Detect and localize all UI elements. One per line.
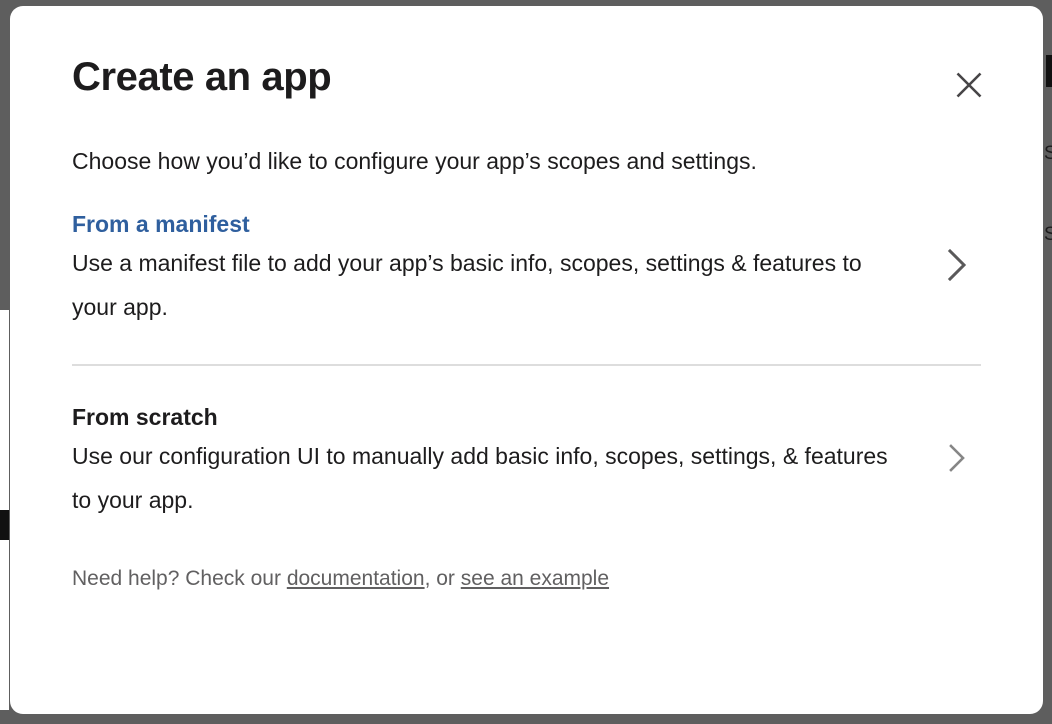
background-page-mark-left [0, 510, 9, 540]
app-creation-options: From a manifest Use a manifest file to a… [72, 177, 981, 522]
option-from-scratch-heading: From scratch [72, 400, 902, 434]
chevron-right-icon[interactable] [933, 243, 981, 287]
page-title: Create an app [72, 53, 331, 101]
background-page-mark-right [1046, 55, 1052, 87]
help-footer: Need help? Check our documentation, or s… [72, 522, 981, 594]
help-footer-separator: , or [425, 567, 461, 590]
background-page-text-1: S [1044, 143, 1052, 165]
option-from-a-manifest[interactable]: From a manifest Use a manifest file to a… [72, 207, 981, 329]
documentation-link[interactable]: documentation [287, 567, 425, 590]
help-footer-lead: Need help? Check our [72, 567, 287, 590]
close-button[interactable] [949, 65, 989, 105]
option-from-scratch-description: Use our configuration UI to manually add… [72, 434, 902, 522]
see-an-example-link[interactable]: see an example [461, 567, 609, 590]
option-from-a-manifest-description: Use a manifest file to add your app’s ba… [72, 241, 902, 329]
option-from-a-manifest-text: From a manifest Use a manifest file to a… [72, 207, 902, 329]
create-an-app-modal: Create an app Choose how you’d like to c… [10, 6, 1043, 714]
options-divider [72, 364, 981, 366]
modal-header: Create an app [72, 6, 981, 105]
chevron-right-icon[interactable] [933, 438, 981, 478]
option-from-scratch-text: From scratch Use our configuration UI to… [72, 400, 902, 522]
close-icon [954, 70, 984, 100]
option-from-a-manifest-heading: From a manifest [72, 207, 902, 241]
background-page-text-2: S [1044, 224, 1052, 246]
modal-subtitle: Choose how you’d like to configure your … [72, 105, 981, 177]
option-from-scratch[interactable]: From scratch Use our configuration UI to… [72, 400, 981, 522]
